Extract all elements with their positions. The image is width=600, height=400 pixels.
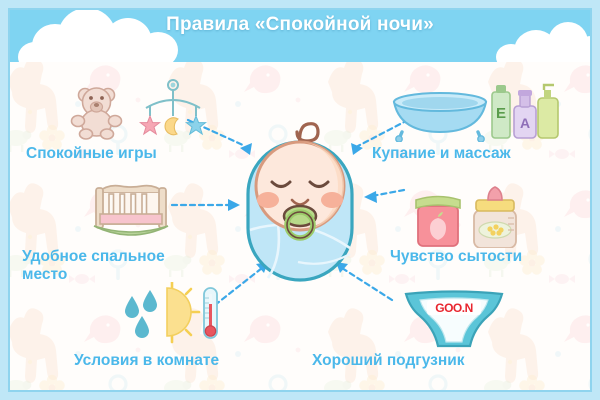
label-good-diaper: Хороший подгузник	[312, 352, 465, 370]
teddy-bear-and-mobile-icon	[60, 78, 210, 140]
label-room-conditions: Условия в комнате	[74, 352, 219, 370]
diaper-brand-text: GOO.N	[435, 301, 473, 315]
sun-droplets-thermometer-icon	[118, 282, 222, 346]
label-feeling-of-fullness: Чувство сытости	[390, 248, 522, 266]
infographic-poster: E A	[0, 0, 600, 400]
baby-food-jar-and-bottle-icon	[410, 186, 528, 248]
label-quiet-games: Спокойные игры	[26, 145, 157, 163]
label-comfortable-sleeping-place: Удобное спальное место	[22, 248, 165, 284]
arrow-head-fullness	[364, 191, 377, 203]
crib-icon	[86, 176, 176, 242]
cosmetic-label-a: A	[520, 115, 530, 131]
cosmetic-label-e: E	[496, 105, 506, 122]
diaper-icon: GOO.N	[400, 288, 508, 348]
arrow-line-fullness	[372, 190, 404, 196]
bathtub-and-cosmetics-icon: E A	[388, 76, 560, 142]
swaddled-baby-illustration	[238, 112, 362, 284]
label-bathing-and-massage: Купание и массаж	[372, 145, 511, 163]
